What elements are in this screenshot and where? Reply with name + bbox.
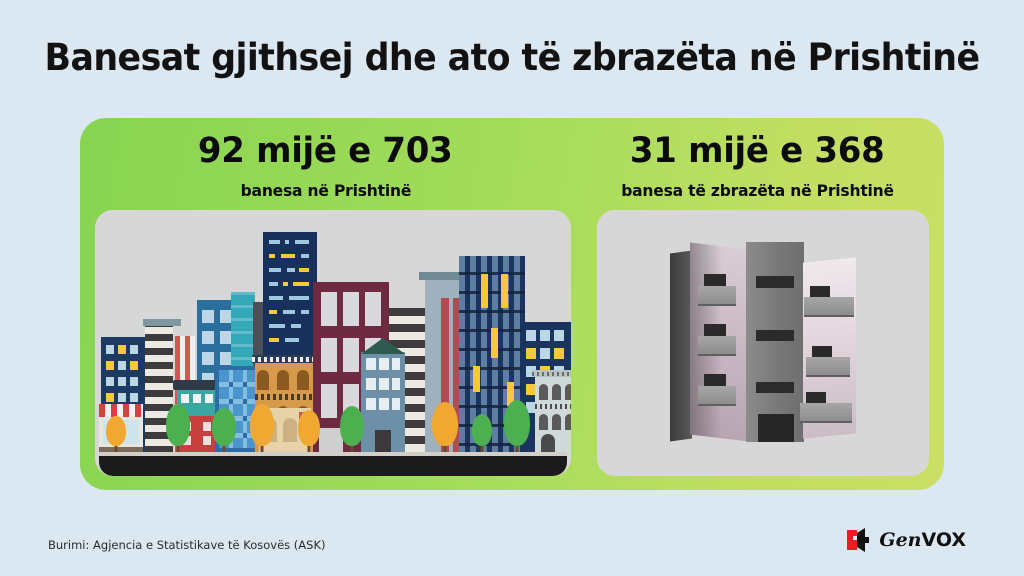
city-skyline-illustration — [95, 210, 571, 476]
logo-text-gen: Gen — [879, 529, 921, 551]
genvox-logo: GenVOX — [843, 527, 966, 553]
tree-green-1 — [165, 396, 191, 452]
apartment-slit-window-3 — [756, 382, 794, 393]
tree-green-4 — [471, 410, 493, 452]
apartment-center-face — [746, 242, 804, 442]
stat-label-empty: banesa të zbrazëta në Prishtinë — [621, 181, 894, 200]
apartment-slit-window-1 — [756, 276, 794, 288]
apartment-entrance-door — [758, 414, 794, 442]
tree-orange-1 — [105, 410, 127, 452]
apartment-side-wall — [670, 250, 692, 441]
stat-label-total: banesa në Prishtinë — [240, 181, 411, 200]
apartment-card — [597, 210, 929, 476]
building-roof-slab — [143, 319, 181, 326]
stat-number-total: 92 mijë e 703 — [198, 131, 453, 171]
apartment-slit-window-2 — [756, 330, 794, 341]
stats-row: 92 mijë e 703 banesa në Prishtinë 31 mij… — [80, 118, 944, 210]
tree-orange-4 — [431, 394, 459, 452]
genvox-megaphone-icon — [843, 527, 873, 553]
page-title: Banesat gjithsej dhe ato të zbrazëta në … — [31, 36, 994, 79]
city-skyline-card — [95, 210, 571, 476]
tree-green-5 — [503, 392, 531, 452]
genvox-wordmark: GenVOX — [879, 529, 966, 551]
apartment-balcony-left-1 — [698, 286, 736, 304]
source-note: Burimi: Agjencia e Statistikave të Kosov… — [48, 538, 325, 552]
tree-orange-2 — [249, 396, 275, 452]
apartment-3d-model — [670, 242, 856, 444]
apartment-balcony-right-1 — [804, 297, 854, 315]
apartment-balcony-left-2 — [698, 336, 736, 354]
building-steeple-house — [361, 352, 405, 452]
apartment-balcony-right-3 — [800, 403, 852, 421]
tree-green-2 — [211, 402, 237, 452]
road-ground — [99, 456, 567, 476]
apartment-balcony-right-2 — [806, 357, 850, 375]
tree-green-3 — [339, 398, 365, 452]
infographic-page: Banesat gjithsej dhe ato të zbrazëta në … — [0, 0, 1024, 576]
stat-number-empty: 31 mijë e 368 — [630, 131, 885, 171]
stat-block-total: 92 mijë e 703 banesa në Prishtinë — [80, 118, 571, 210]
apartment-building-illustration — [597, 210, 929, 476]
stat-block-empty: 31 mijë e 368 banesa të zbrazëta në Pris… — [571, 118, 944, 210]
green-stats-panel: 92 mijë e 703 banesa në Prishtinë 31 mij… — [80, 118, 944, 490]
tree-orange-3 — [297, 404, 321, 452]
building-pale-arcade — [535, 376, 571, 452]
logo-text-vox: VOX — [922, 529, 967, 551]
apartment-balcony-left-3 — [698, 386, 736, 404]
